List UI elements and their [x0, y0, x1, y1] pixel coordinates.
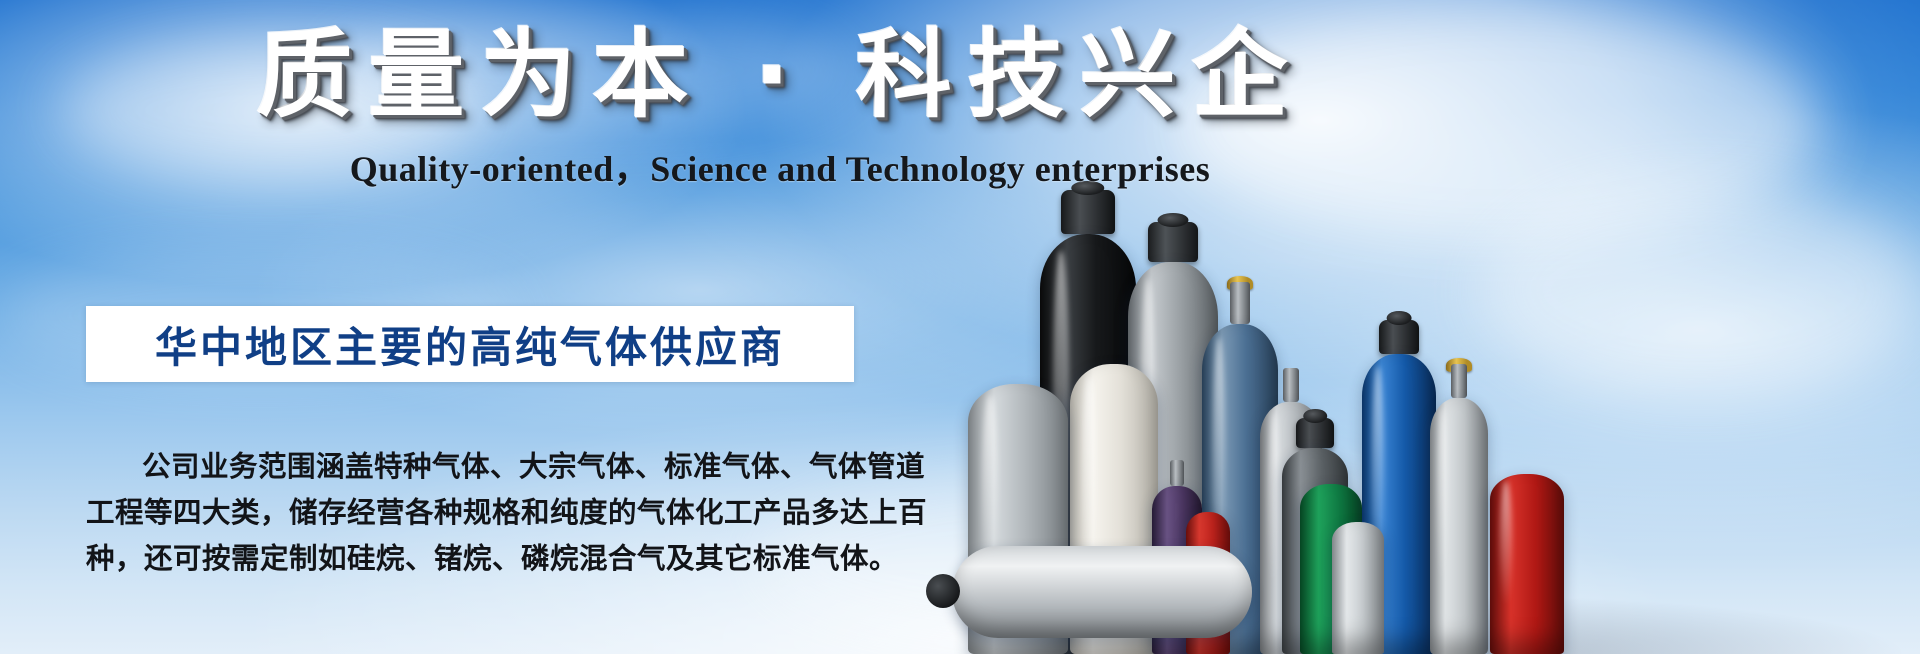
cylinder-valve	[1170, 460, 1184, 486]
tagline-text: 华中地区主要的高纯气体供应商	[155, 314, 785, 375]
cylinder-cap	[1061, 190, 1115, 234]
cylinder-valve	[1451, 364, 1467, 398]
cylinder-valve	[1230, 282, 1250, 324]
banner-subtitle-english: Quality-oriented，Science and Technology …	[0, 140, 1560, 192]
cylinder-body	[1430, 398, 1488, 654]
headline-block: 质量为本 · 科技兴企 Quality-oriented，Science and…	[0, 22, 1560, 192]
aluminium-short-cylinder	[1332, 522, 1384, 654]
cylinder-body	[1332, 522, 1384, 654]
intro-line-3: 种，还可按需定制如硅烷、锗烷、磷烷混合气及其它标准气体。	[86, 535, 886, 581]
cylinder-highlight	[1269, 412, 1279, 588]
cylinder-highlight	[1500, 481, 1512, 607]
company-intro-paragraph: 公司业务范围涵盖特种气体、大宗气体、标准气体、气体管道 工程等四大类，储存经营各…	[86, 443, 886, 581]
cylinder-valve	[1283, 368, 1299, 402]
tagline-highlight-box: 华中地区主要的高纯气体供应商	[86, 306, 854, 382]
intro-line-1: 公司业务范围涵盖特种气体、大宗气体、标准气体、气体管道	[86, 443, 886, 489]
cylinder-highlight	[1438, 408, 1447, 587]
red-large-cylinder	[1490, 474, 1564, 654]
gas-company-banner: 质量为本 · 科技兴企 Quality-oriented，Science and…	[0, 0, 1920, 654]
lying-silver-tank	[952, 546, 1252, 638]
cylinder-body	[1490, 474, 1564, 654]
banner-headline: 质量为本 · 科技兴企	[0, 22, 1560, 130]
cylinder-cap	[1379, 320, 1419, 354]
cylinder-cap	[1296, 418, 1334, 448]
intro-line-2: 工程等四大类，储存经营各种规格和纯度的气体化工产品多达上百	[86, 489, 886, 535]
aluminium-cylinder	[1430, 398, 1488, 654]
cylinder-cap	[1148, 222, 1198, 262]
